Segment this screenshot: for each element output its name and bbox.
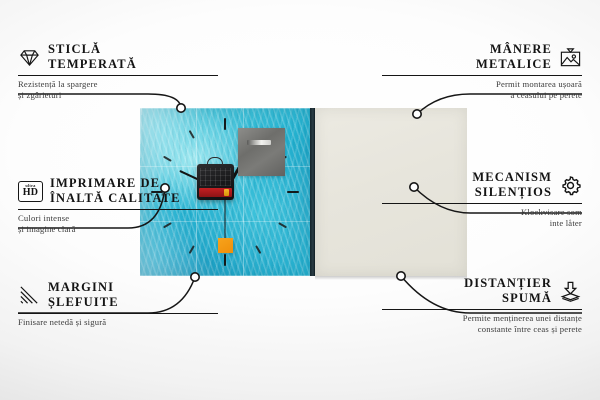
callout-imprimare-inalta-calitate[interactable]: ultra HD IMPRIMARE DE ÎNALTĂ CALITATE Cu…	[18, 176, 218, 235]
callout-title-line1: MECANISM	[472, 170, 552, 185]
gear-icon	[559, 174, 582, 197]
callout-title-line2: SILENȚIOS	[472, 185, 552, 200]
polished-edges-icon	[18, 284, 41, 307]
callout-rule	[382, 309, 582, 310]
callout-title-line1: MARGINI	[48, 280, 119, 295]
callout-title-line2: METALICE	[476, 57, 552, 72]
infographic-stage: STICLĂ TEMPERATĂ Rezistență la spargere …	[0, 0, 600, 400]
callout-sub-line1: Permit montarea ușoară	[382, 79, 582, 90]
callout-sub-line1: Finisare netedă și sigură	[18, 317, 218, 328]
callout-rule	[382, 203, 582, 204]
callout-title-line1: DISTANȚIER	[464, 276, 552, 291]
foam-spacer	[218, 238, 233, 253]
diamond-icon	[18, 46, 41, 69]
callout-sticla-temperata[interactable]: STICLĂ TEMPERATĂ Rezistență la spargere …	[18, 42, 218, 101]
callout-title-line1: STICLĂ	[48, 42, 137, 57]
metal-hanger-plate	[238, 128, 285, 176]
foam-spacer-icon	[559, 280, 582, 303]
ultra-hd-main-text: HD	[23, 188, 38, 198]
callout-rule	[382, 75, 582, 76]
callout-sub-line2: a ceasului pe perete	[382, 90, 582, 101]
ultra-hd-icon: ultra HD	[18, 181, 43, 202]
callout-rule	[18, 313, 218, 314]
callout-margini-slefuite[interactable]: MARGINI ȘLEFUITE Finisare netedă și sigu…	[18, 280, 218, 328]
callout-sub-line1: Rezistență la spargere	[18, 79, 218, 90]
callout-title-line1: MÂNERE	[476, 42, 552, 57]
callout-distantier-spuma[interactable]: DISTANȚIER SPUMĂ Permite menținerea unei…	[382, 276, 582, 335]
callout-mecanism-silentios[interactable]: MECANISM SILENȚIOS Klockvisare som inte …	[382, 170, 582, 229]
callout-title-line1: IMPRIMARE DE	[50, 176, 181, 191]
picture-hanger-icon	[559, 46, 582, 69]
callout-sub-line1: Culori intense	[18, 213, 218, 224]
callout-title-line2: TEMPERATĂ	[48, 57, 137, 72]
callout-title-line2: SPUMĂ	[464, 291, 552, 306]
callout-sub-line1: Permite menținerea unei distanțe	[382, 313, 582, 324]
callout-sub-line2: inte låter	[382, 218, 582, 229]
callout-title-line2: ÎNALTĂ CALITATE	[50, 191, 181, 206]
callout-sub-line2: și zgârieturi	[18, 90, 218, 101]
callout-sub-line2: și imagine clară	[18, 224, 218, 235]
callout-sub-line1: Klockvisare som	[382, 207, 582, 218]
mechanism-hook	[207, 157, 223, 165]
callout-rule	[18, 209, 218, 210]
callout-title-line2: ȘLEFUITE	[48, 295, 119, 310]
callout-manere-metalice[interactable]: MÂNERE METALICE Permit montarea ușoară a…	[382, 42, 582, 101]
callout-sub-line2: constante între ceas și perete	[382, 324, 582, 335]
callout-rule	[18, 75, 218, 76]
